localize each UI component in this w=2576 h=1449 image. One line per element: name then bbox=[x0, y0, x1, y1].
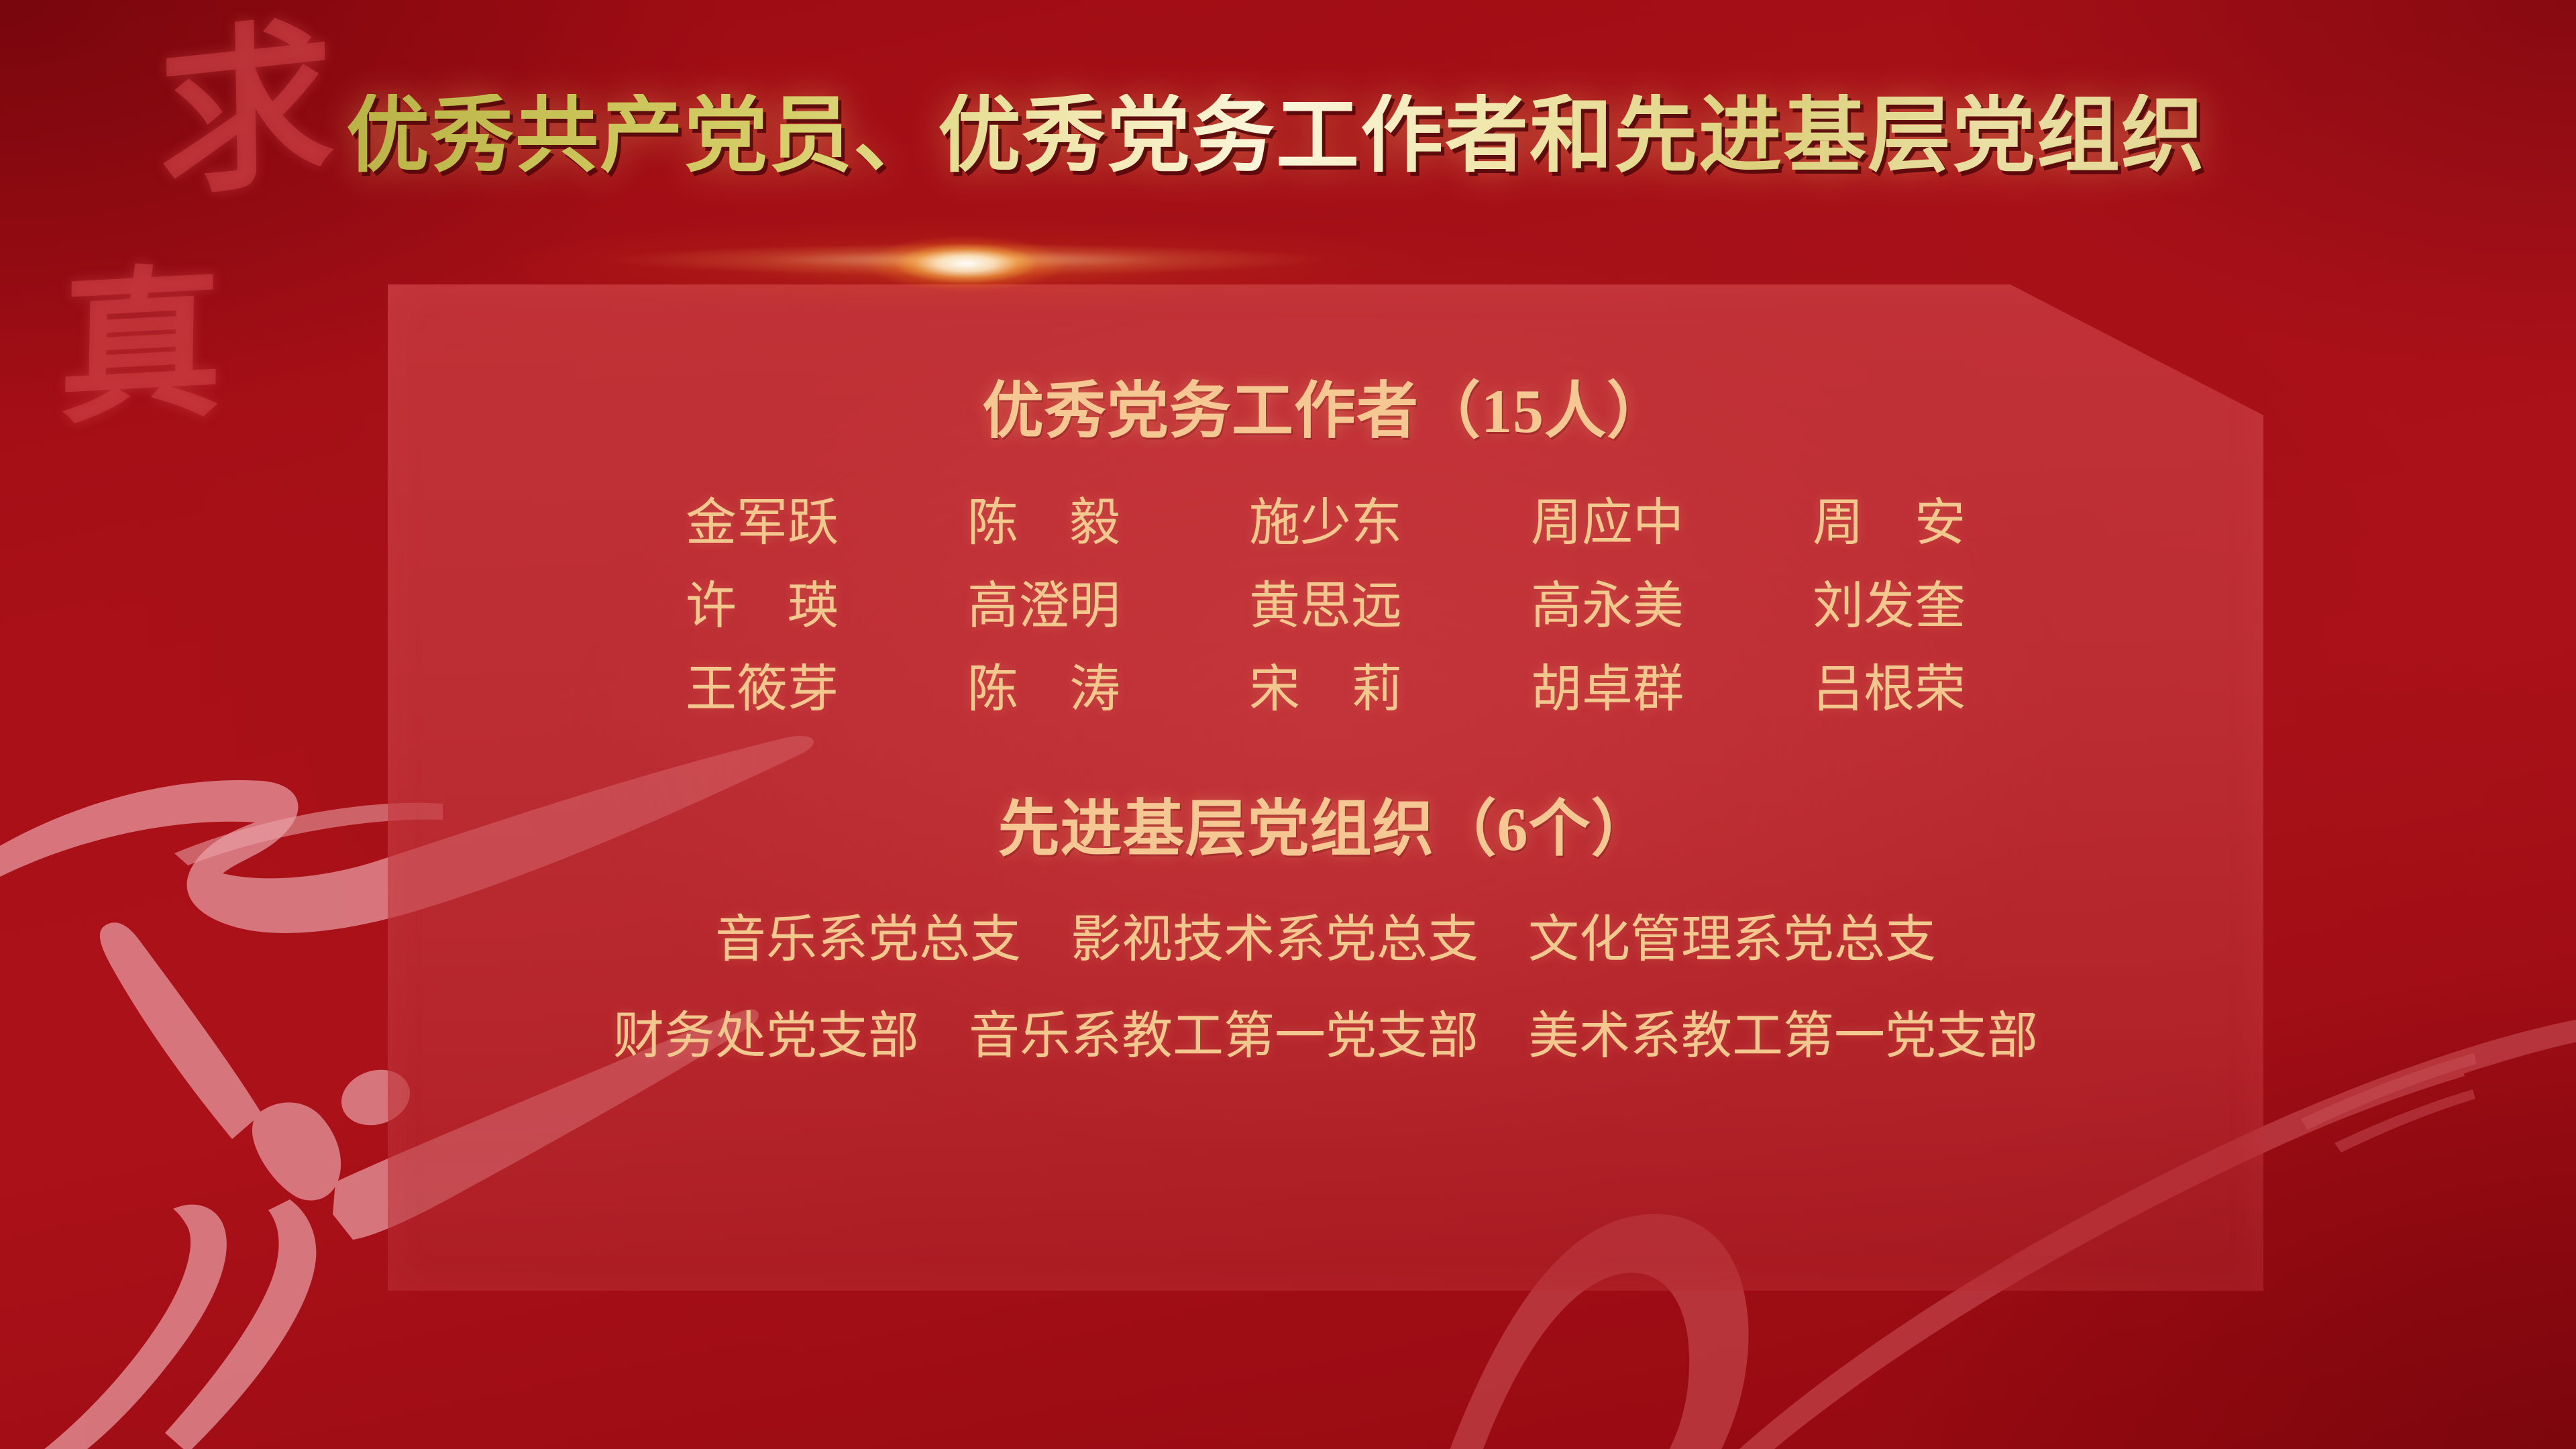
organizations-list: 音乐系党总支 影视技术系党总支 文化管理系党总支 财务处党支部 音乐系教工第一党… bbox=[388, 898, 2263, 1068]
presentation-slide: 求 真 优秀共产党员、优秀党务工作 bbox=[0, 0, 2576, 1449]
name-cell: 高澄明 bbox=[903, 564, 1185, 638]
party-workers-name-grid: 金军跃 陈 毅 施少东 周应中 周 安 许 瑛 高澄明 黄思远 高永美 刘发奎 … bbox=[388, 481, 2263, 721]
org-cell: 美术系教工第一党支部 bbox=[1528, 994, 2038, 1068]
name-cell: 施少东 bbox=[1185, 481, 1466, 555]
name-row: 金军跃 陈 毅 施少东 周应中 周 安 bbox=[621, 481, 2030, 555]
name-cell: 周 安 bbox=[1748, 481, 2030, 555]
awards-content: 优秀党务工作者（15人） 金军跃 陈 毅 施少东 周应中 周 安 许 瑛 高澄明… bbox=[388, 284, 2263, 1291]
name-row: 王筱芽 陈 涛 宋 莉 胡卓群 吕根荣 bbox=[621, 647, 2030, 721]
name-cell: 高永美 bbox=[1466, 564, 1748, 638]
section-heading-outstanding-party-workers: 优秀党务工作者（15人） bbox=[388, 361, 2263, 450]
name-cell: 陈 毅 bbox=[903, 481, 1185, 555]
calligraphy-watermark-zhen: 真 bbox=[58, 262, 224, 435]
org-cell: 影视技术系党总支 bbox=[1071, 898, 1479, 971]
title-container: 优秀共产党员、优秀党务工作者和先进基层党组织 bbox=[0, 94, 2576, 178]
name-cell: 刘发奎 bbox=[1748, 564, 2030, 638]
name-cell: 胡卓群 bbox=[1466, 647, 1748, 721]
org-row: 财务处党支部 音乐系教工第一党支部 美术系教工第一党支部 bbox=[388, 994, 2263, 1068]
name-cell: 陈 涛 bbox=[903, 647, 1185, 721]
name-cell: 许 瑛 bbox=[621, 564, 903, 638]
name-cell: 宋 莉 bbox=[1185, 647, 1466, 721]
name-cell: 金军跃 bbox=[621, 481, 903, 555]
org-cell: 音乐系教工第一党支部 bbox=[969, 994, 1479, 1068]
name-cell: 周应中 bbox=[1466, 481, 1748, 555]
name-cell: 黄思远 bbox=[1185, 564, 1466, 638]
org-row: 音乐系党总支 影视技术系党总支 文化管理系党总支 bbox=[388, 898, 2263, 971]
org-cell: 音乐系党总支 bbox=[715, 898, 1021, 971]
section-heading-advanced-grassroots-organizations: 先进基层党组织（6个） bbox=[388, 779, 2263, 868]
name-row: 许 瑛 高澄明 黄思远 高永美 刘发奎 bbox=[621, 564, 2030, 638]
name-cell: 吕根荣 bbox=[1748, 647, 2030, 721]
org-cell: 文化管理系党总支 bbox=[1528, 898, 1936, 971]
page-title: 优秀共产党员、优秀党务工作者和先进基层党组织 bbox=[346, 94, 2206, 178]
calligraphy-watermark-qiu: 求 bbox=[157, 15, 335, 209]
name-cell: 王筱芽 bbox=[621, 647, 903, 721]
org-cell: 财务处党支部 bbox=[613, 994, 919, 1068]
